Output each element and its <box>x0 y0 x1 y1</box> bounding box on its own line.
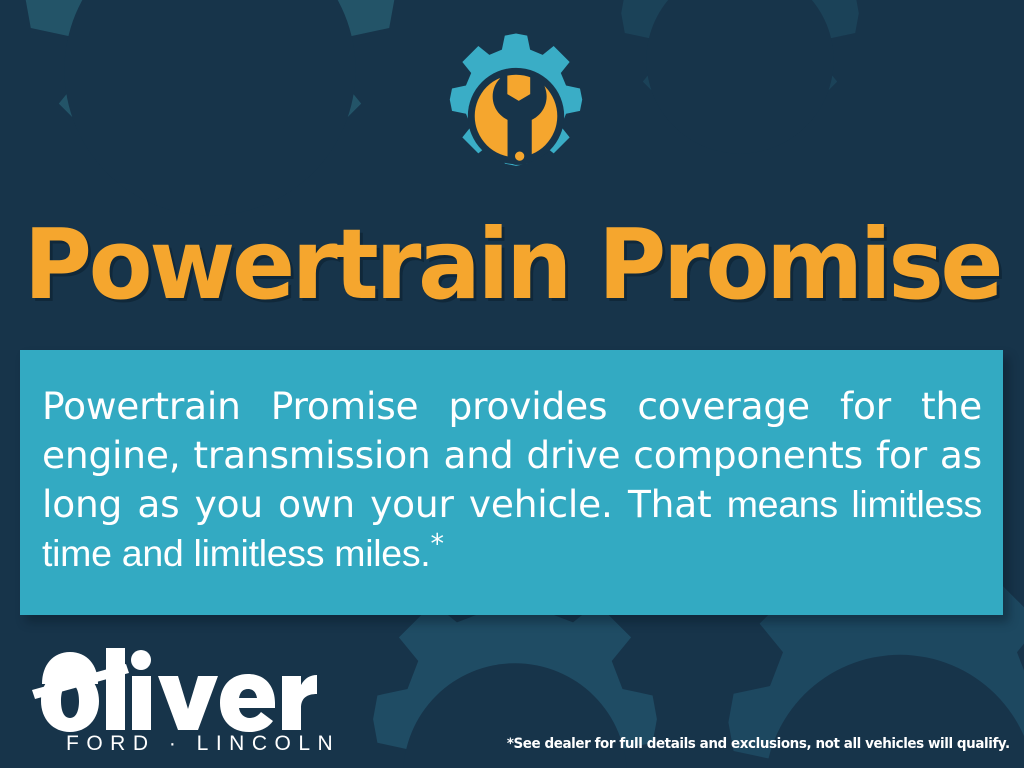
dealer-logo: FORD · LINCOLN <box>30 640 330 758</box>
description-text: Powertrain Promise provides coverage for… <box>42 382 982 578</box>
oliver-wordmark-icon <box>30 640 330 732</box>
gear-wrench-icon <box>430 30 602 202</box>
background-gear-top-right <box>560 0 920 240</box>
dealer-brands: FORD · LINCOLN <box>66 732 340 756</box>
disclaimer-text: *See dealer for full details and exclusi… <box>507 736 1010 752</box>
page-title: Powertrain Promise <box>20 216 1003 313</box>
footnote-marker: * <box>430 529 443 560</box>
promotional-poster: Powertrain Promise Powertrain Promise pr… <box>0 0 1024 768</box>
description-panel: Powertrain Promise provides coverage for… <box>20 350 1003 615</box>
